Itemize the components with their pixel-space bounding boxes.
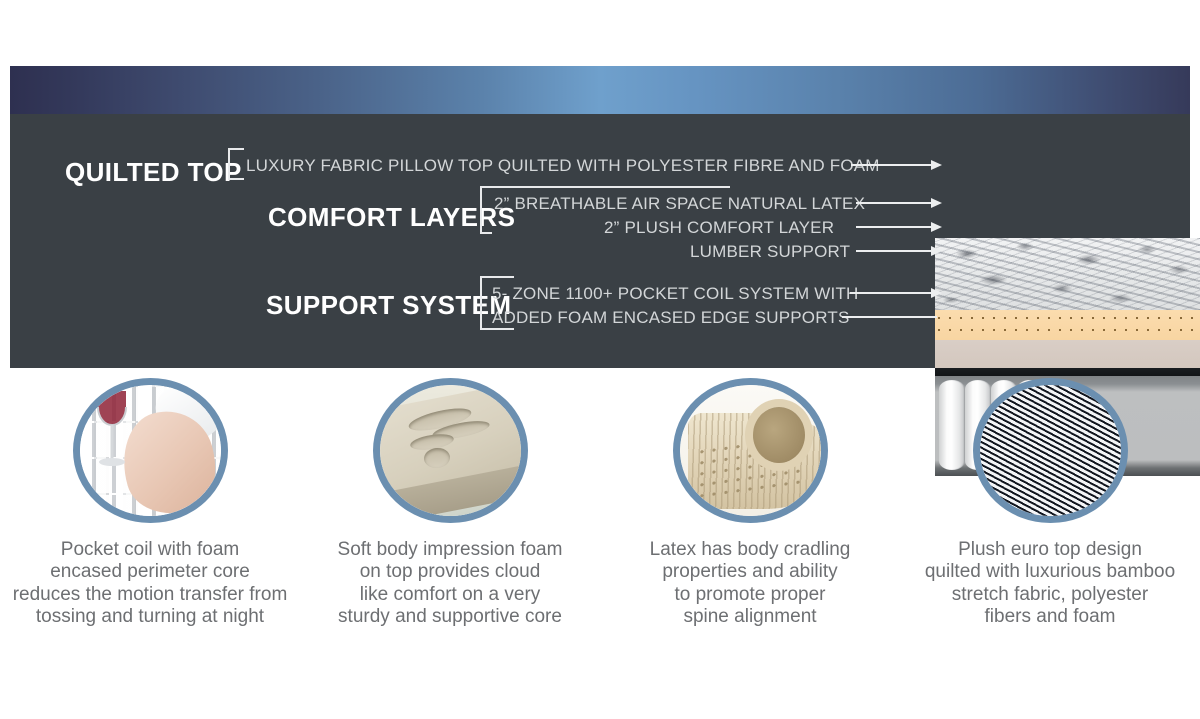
detail-support-system-1: 5- ZONE 1100+ POCKET COIL SYSTEM WITH	[492, 284, 859, 304]
feature-image-latex-roll	[673, 378, 828, 523]
feature-highlights-row: Pocket coil with foam encased perimeter …	[0, 378, 1200, 628]
arrow-icon-comfort-3	[931, 246, 942, 256]
feature-image-pocket-coil	[73, 378, 228, 523]
leader-line-comfort-3	[856, 250, 937, 252]
detail-quilted-top-1: LUXURY FABRIC PILLOW TOP QUILTED WITH PO…	[246, 156, 880, 176]
detail-comfort-layers-3: LUMBER SUPPORT	[690, 242, 850, 262]
header-gradient-banner	[10, 66, 1190, 114]
leader-line-comfort-1	[856, 202, 937, 204]
feature-caption: Plush euro top design quilted with luxur…	[900, 539, 1200, 628]
feature-caption: Pocket coil with foam encased perimeter …	[0, 539, 300, 628]
plush-comfort-layer	[935, 340, 1200, 368]
arrow-icon-support-1	[931, 288, 942, 298]
feature-item: Soft body impression foam on top provide…	[300, 378, 600, 628]
section-heading-support-system: SUPPORT SYSTEM	[266, 290, 511, 321]
feature-caption: Soft body impression foam on top provide…	[300, 539, 600, 628]
leader-line-support-1	[850, 292, 937, 294]
arrow-icon-comfort-2	[931, 222, 942, 232]
feature-item: Plush euro top design quilted with luxur…	[900, 378, 1200, 628]
feature-item: Pocket coil with foam encased perimeter …	[0, 378, 300, 628]
feature-image-quilted-fabric	[973, 378, 1128, 523]
detail-comfort-layers-1: 2” BREATHABLE AIR SPACE NATURAL LATEX	[494, 194, 865, 214]
leader-line-comfort-2	[856, 226, 937, 228]
bracket-comfort-layers	[480, 186, 490, 234]
mattress-diagram-panel: QUILTED TOP LUXURY FABRIC PILLOW TOP QUI…	[10, 114, 1190, 368]
lumber-support-layer	[935, 368, 1200, 376]
section-heading-quilted-top: QUILTED TOP	[65, 157, 242, 188]
bracket-quilted-top	[228, 148, 242, 180]
quilted-top-layer	[935, 238, 1200, 310]
feature-caption: Latex has body cradling properties and a…	[600, 539, 900, 628]
leader-line-quilted-top	[851, 164, 937, 166]
feature-item: Latex has body cradling properties and a…	[600, 378, 900, 628]
natural-latex-layer	[935, 310, 1200, 340]
detail-comfort-layers-2: 2” PLUSH COMFORT LAYER	[604, 218, 834, 238]
wine-glass-icon	[92, 389, 132, 475]
section-heading-comfort-layers: COMFORT LAYERS	[268, 202, 515, 233]
arrow-icon-quilted-top	[931, 160, 942, 170]
arrow-icon-comfort-1	[931, 198, 942, 208]
feature-image-memory-foam	[373, 378, 528, 523]
detail-support-system-2: ADDED FOAM ENCASED EDGE SUPPORTS	[492, 308, 849, 328]
leader-line-support-2	[842, 316, 937, 318]
